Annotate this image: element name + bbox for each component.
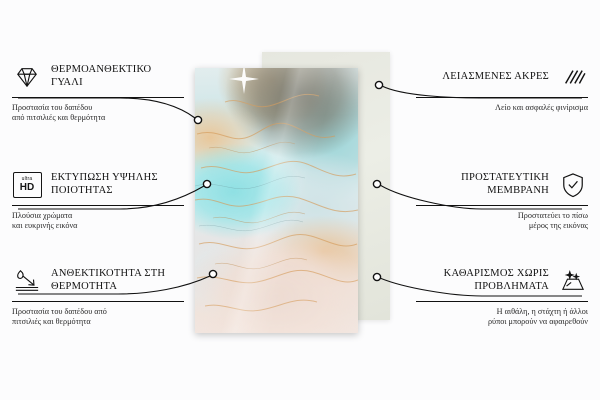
feature-header: ΑΝΘΕΚΤΙΚΟΤΗΤΑ ΣΤΗ ΘΕΡΜΟΤΗΤΑ: [12, 266, 184, 296]
feature-description-line-1: Η αιθάλη, η στάχτη ή άλλοι: [416, 307, 588, 317]
feature-heat-resistant-glass: ΘΕΡΜΟΑΝΘΕΚΤΙΚΟ ΓΥΑΛΙ Προστασία του δαπέδ…: [12, 62, 184, 124]
feature-title: ΕΚΤΥΠΩΣΗ ΥΨΗΛΗΣ ΠΟΙΟΤΗΤΑΣ: [51, 172, 184, 197]
feature-header: ΛΕΙΑΣΜΕΝΕΣ ΑΚΡΕΣ: [416, 62, 588, 92]
feature-description-line-2: μέρος της εικόνας: [416, 221, 588, 231]
shield-check-icon: [558, 171, 588, 199]
feature-description: Προστατεύει το πίσω μέρος της εικόνας: [416, 211, 588, 232]
feature-heat-durability: ΑΝΘΕΚΤΙΚΟΤΗΤΑ ΣΤΗ ΘΕΡΜΟΤΗΤΑ Προστασία το…: [12, 266, 184, 328]
feature-high-quality-print: ultra HD ΕΚΤΥΠΩΣΗ ΥΨΗΛΗΣ ΠΟΙΟΤΗΤΑΣ Πλούσ…: [12, 170, 184, 232]
ultra-hd-badge-icon: ultra HD: [12, 171, 42, 199]
feature-description: Προστασία του δαπέδου από πιτσιλιές και …: [12, 307, 184, 328]
feature-divider: [12, 205, 184, 206]
diamond-icon: [12, 63, 42, 91]
feature-divider: [416, 97, 588, 98]
feature-divider: [12, 97, 184, 98]
feature-title: ΛΕΙΑΣΜΕΝΕΣ ΑΚΡΕΣ: [416, 71, 549, 84]
feature-header: ΘΕΡΜΟΑΝΘΕΚΤΙΚΟ ΓΥΑΛΙ: [12, 62, 184, 92]
hd-label: HD: [20, 183, 34, 193]
infographic-canvas: ΘΕΡΜΟΑΝΘΕΚΤΙΚΟ ΓΥΑΛΙ Προστασία του δαπέδ…: [0, 0, 600, 400]
feature-title: ΑΝΘΕΚΤΙΚΟΤΗΤΑ ΣΤΗ ΘΕΡΜΟΤΗΤΑ: [51, 268, 184, 293]
artwork-abstract-marble: [195, 68, 358, 333]
feature-description: Πλούσια χρώματα και ευκρινής εικόνα: [12, 211, 184, 232]
feature-divider: [12, 301, 184, 302]
polished-edges-icon: [558, 63, 588, 91]
feature-description-line-1: Πλούσια χρώματα: [12, 211, 184, 221]
feature-description-line-2: ρύποι μπορούν να αφαιρεθούν: [416, 317, 588, 327]
feature-protective-membrane: ΠΡΟΣΤΑΤΕΥΤΙΚΗ ΜΕΜΒΡΑΝΗ Προστατεύει το πί…: [416, 170, 588, 232]
feature-easy-cleaning: ΚΑΘΑΡΙΣΜΟΣ ΧΩΡΙΣ ΠΡΟΒΛΗΜΑΤΑ Η αιθάλη, η …: [416, 266, 588, 328]
glass-panel: [195, 68, 358, 333]
feature-description: Λείο και ασφαλές φινίρισμα: [416, 103, 588, 113]
product-illustration: [178, 48, 396, 360]
artwork-gold-veins: [195, 68, 358, 333]
feature-description-line-1: Προστασία του δαπέδου από: [12, 307, 184, 317]
feature-description-line-2: και ευκρινής εικόνα: [12, 221, 184, 231]
feature-description-line-1: Προστατεύει το πίσω: [416, 211, 588, 221]
feature-header: ultra HD ΕΚΤΥΠΩΣΗ ΥΨΗΛΗΣ ΠΟΙΟΤΗΤΑΣ: [12, 170, 184, 200]
feature-description-line-2: από πιτσιλιές και θερμότητα: [12, 113, 184, 123]
feature-divider: [416, 301, 588, 302]
feature-polished-edges: ΛΕΙΑΣΜΕΝΕΣ ΑΚΡΕΣ Λείο και ασφαλές φινίρι…: [416, 62, 588, 113]
feature-description: Προστασία του δαπέδου από πιτσιλιές και …: [12, 103, 184, 124]
feature-divider: [416, 205, 588, 206]
feature-description: Η αιθάλη, η στάχτη ή άλλοι ρύποι μπορούν…: [416, 307, 588, 328]
easy-clean-sparkle-icon: [558, 267, 588, 295]
heat-resistant-icon: [12, 267, 42, 295]
feature-description-line-1: Λείο και ασφαλές φινίρισμα: [416, 103, 588, 113]
feature-header: ΚΑΘΑΡΙΣΜΟΣ ΧΩΡΙΣ ΠΡΟΒΛΗΜΑΤΑ: [416, 266, 588, 296]
feature-title: ΠΡΟΣΤΑΤΕΥΤΙΚΗ ΜΕΜΒΡΑΝΗ: [416, 172, 549, 197]
feature-header: ΠΡΟΣΤΑΤΕΥΤΙΚΗ ΜΕΜΒΡΑΝΗ: [416, 170, 588, 200]
feature-description-line-2: πιτσιλιές και θερμότητα: [12, 317, 184, 327]
feature-title: ΘΕΡΜΟΑΝΘΕΚΤΙΚΟ ΓΥΑΛΙ: [51, 64, 184, 89]
feature-title: ΚΑΘΑΡΙΣΜΟΣ ΧΩΡΙΣ ΠΡΟΒΛΗΜΑΤΑ: [416, 268, 549, 293]
feature-description-line-1: Προστασία του δαπέδου: [12, 103, 184, 113]
